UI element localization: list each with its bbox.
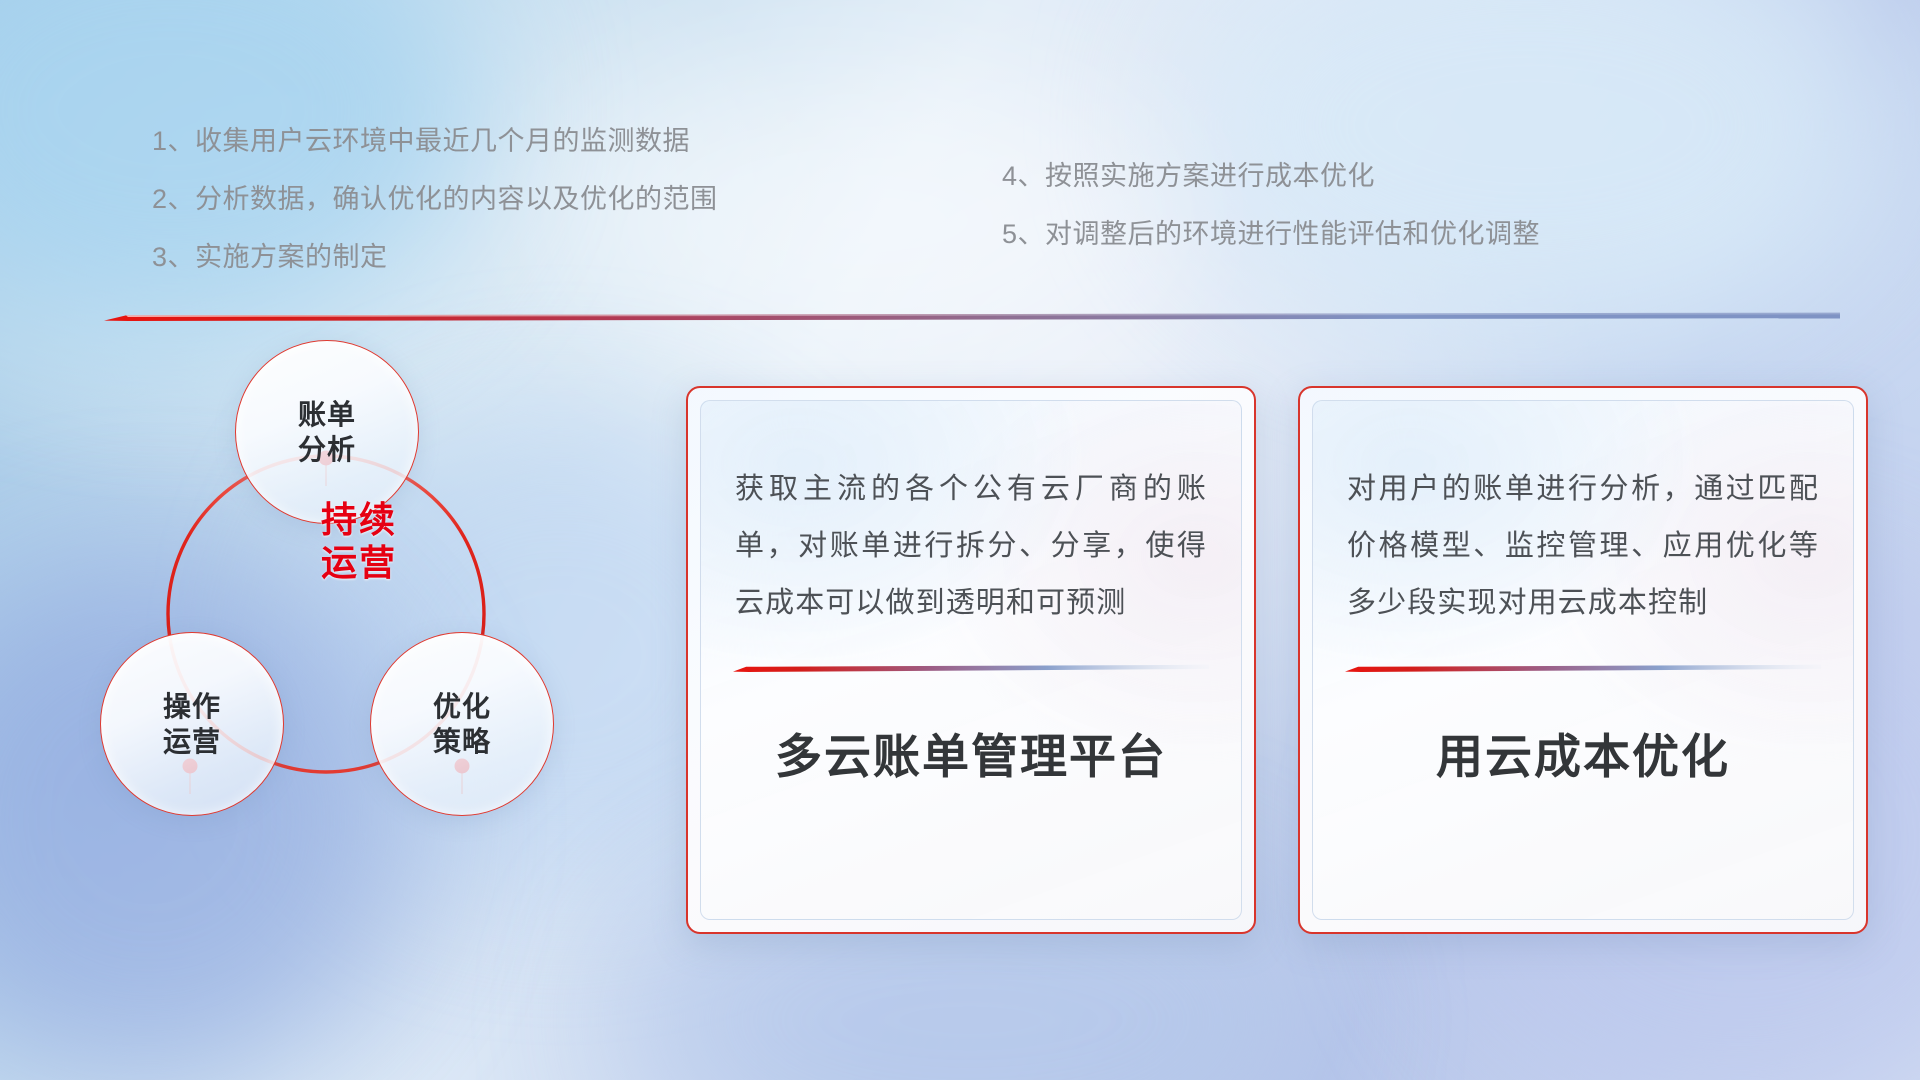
feature-card-multicloud-billing[interactable]: 获取主流的各个公有云厂商的账单，对账单进行拆分、分享，使得云成本可以做到透明和可… xyxy=(686,386,1256,934)
venn-bubble-line-2: 运营 xyxy=(163,724,221,759)
feature-card-inner-panel: 获取主流的各个公有云厂商的账单，对账单进行拆分、分享，使得云成本可以做到透明和可… xyxy=(700,400,1242,920)
slide-canvas: 1、收集用户云环境中最近几个月的监测数据 2、分析数据，确认优化的内容以及优化的… xyxy=(0,0,1920,1080)
venn-bubble-bill-analysis[interactable]: 账单 分析 xyxy=(235,340,419,524)
venn-bubble-optimization-strategy[interactable]: 优化 策略 xyxy=(370,632,554,816)
venn-bubble-line-1: 优化 xyxy=(433,689,491,724)
venn-bubble-line-1: 操作 xyxy=(163,689,221,724)
feature-card-inner-panel: 对用户的账单进行分析，通过匹配价格模型、监控管理、应用优化等多少段实现对用云成本… xyxy=(1312,400,1854,920)
continuous-operation-diagram: 账单 分析 操作 运营 优化 策略 持续 运营 xyxy=(100,340,660,950)
steps-list-right: 4、按照实施方案进行成本优化 5、对调整后的环境进行性能评估和优化调整 xyxy=(1002,163,1540,279)
step-item: 1、收集用户云环境中最近几个月的监测数据 xyxy=(152,128,718,155)
feature-card-cloud-cost-optimization[interactable]: 对用户的账单进行分析，通过匹配价格模型、监控管理、应用优化等多少段实现对用云成本… xyxy=(1298,386,1868,934)
venn-bubble-line-1: 账单 xyxy=(298,397,356,432)
step-item: 5、对调整后的环境进行性能评估和优化调整 xyxy=(1002,221,1540,248)
venn-bubble-line-2: 分析 xyxy=(298,432,356,467)
feature-card-description: 获取主流的各个公有云厂商的账单，对账单进行拆分、分享，使得云成本可以做到透明和可… xyxy=(701,401,1241,632)
feature-card-divider xyxy=(733,664,1209,672)
feature-card-title: 多云账单管理平台 xyxy=(701,718,1241,787)
venn-bubble-line-2: 策略 xyxy=(433,724,491,759)
venn-center-line-1: 持续 xyxy=(264,498,454,541)
steps-list-left: 1、收集用户云环境中最近几个月的监测数据 2、分析数据，确认优化的内容以及优化的… xyxy=(152,128,718,302)
step-item: 4、按照实施方案进行成本优化 xyxy=(1002,163,1540,190)
feature-card-divider xyxy=(1345,664,1821,672)
venn-center-line-2: 运营 xyxy=(264,541,454,584)
step-item: 2、分析数据，确认优化的内容以及优化的范围 xyxy=(152,186,718,213)
step-item: 3、实施方案的制定 xyxy=(152,244,718,271)
venn-bubble-operations[interactable]: 操作 运营 xyxy=(100,632,284,816)
feature-card-title: 用云成本优化 xyxy=(1313,718,1853,787)
section-divider xyxy=(104,312,1840,321)
feature-card-description: 对用户的账单进行分析，通过匹配价格模型、监控管理、应用优化等多少段实现对用云成本… xyxy=(1313,401,1853,632)
venn-center-label: 持续 运营 xyxy=(264,498,454,584)
